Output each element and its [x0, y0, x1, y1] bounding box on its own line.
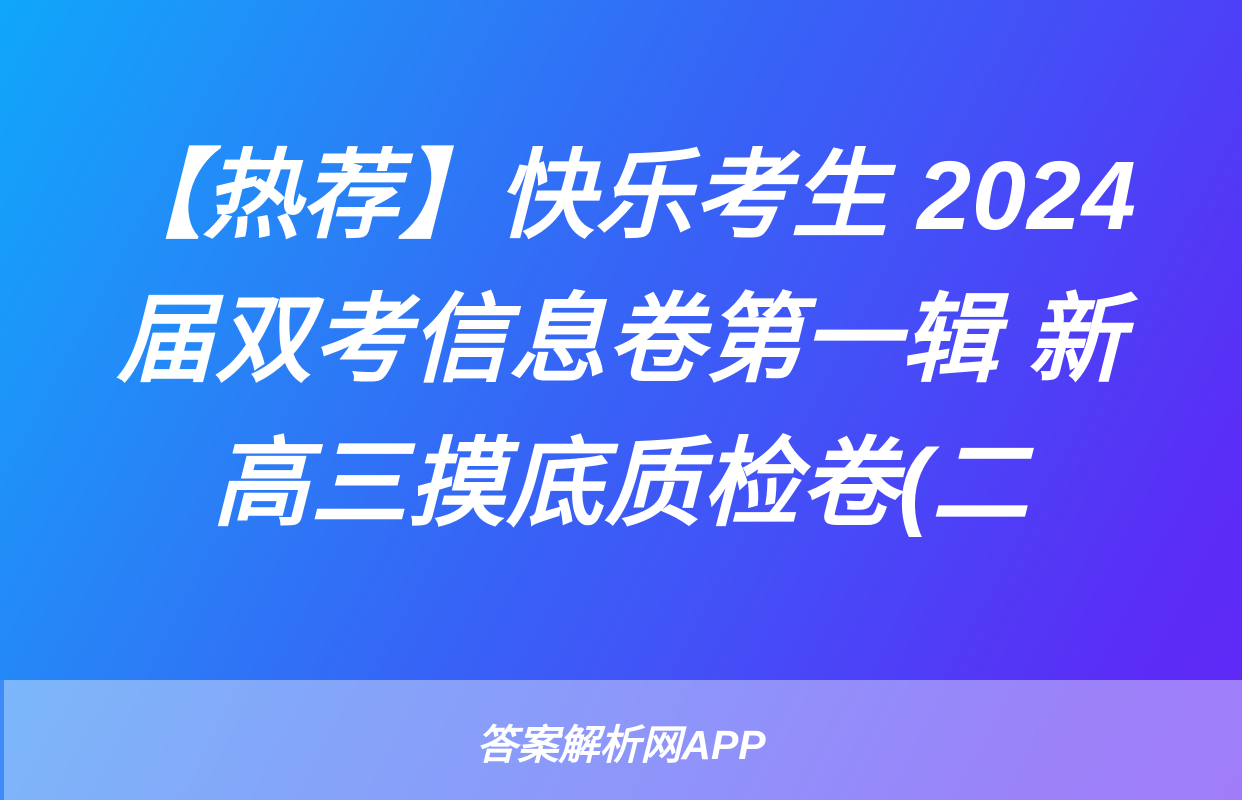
watermark-band: 答案解析网APP: [0, 680, 1242, 800]
title-block: 【热荐】快乐考生 2024 届双考信息卷第一辑 新 高三摸底质检卷(二: [0, 0, 1242, 680]
title-line-2: 届双考信息卷第一辑 新: [117, 268, 1125, 412]
title-line-1: 【热荐】快乐考生 2024: [105, 124, 1137, 268]
band-left-edge-accent: [0, 680, 4, 800]
banner-screen: 【热荐】快乐考生 2024 届双考信息卷第一辑 新 高三摸底质检卷(二 答案解析…: [0, 0, 1242, 800]
title-line-3: 高三摸底质检卷(二: [212, 412, 1029, 556]
watermark-label: 答案解析网APP: [476, 711, 765, 771]
